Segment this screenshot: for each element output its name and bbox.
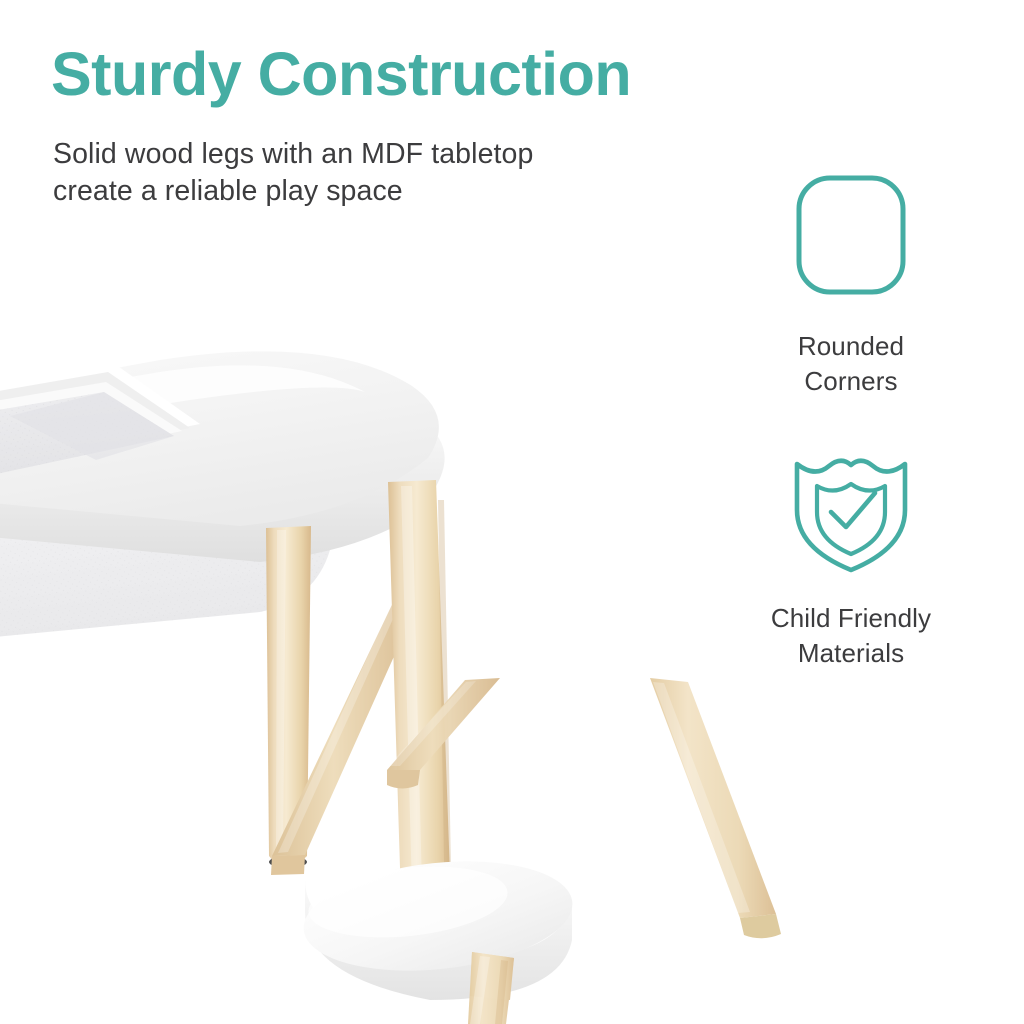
feature-child-friendly-materials-label: Child Friendly Materials bbox=[721, 601, 981, 672]
feature-child-friendly-materials: Child Friendly Materials bbox=[721, 448, 981, 672]
page-subtitle: Solid wood legs with an MDF tabletop cre… bbox=[53, 136, 533, 211]
page-title: Sturdy Construction bbox=[51, 40, 631, 108]
marketing-image: Sturdy Construction Solid wood legs with… bbox=[0, 0, 1024, 1024]
shield-check-icon bbox=[721, 448, 981, 581]
table bbox=[0, 351, 452, 948]
feature-rounded-corners: Rounded Corners bbox=[721, 168, 981, 400]
rounded-square-icon bbox=[721, 168, 981, 307]
stool bbox=[298, 678, 781, 1024]
stool-leg-right bbox=[650, 678, 781, 938]
stool-leg-center bbox=[468, 952, 514, 1024]
feature-rounded-corners-label: Rounded Corners bbox=[721, 329, 981, 400]
